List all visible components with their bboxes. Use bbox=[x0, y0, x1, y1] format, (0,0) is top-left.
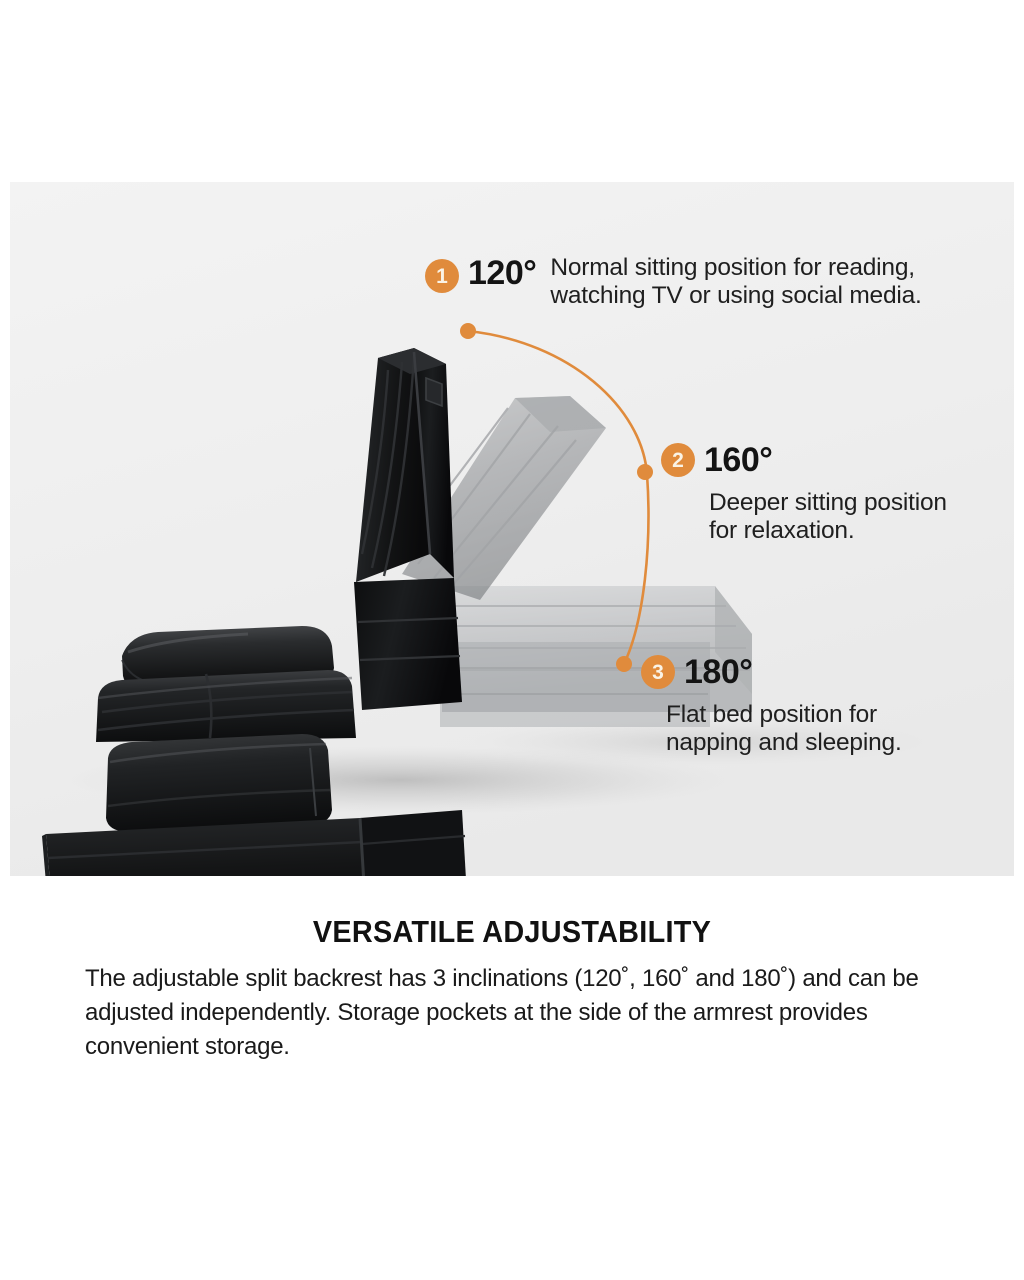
badge-number-2: 2 bbox=[661, 443, 695, 477]
callout-3-line2: napping and sleeping. bbox=[666, 729, 902, 756]
seat-cushion-upper bbox=[96, 670, 356, 742]
callout-3-head: 3 180° bbox=[641, 655, 902, 689]
angle-value-2: 160° bbox=[704, 443, 772, 477]
callout-3-description: Flat bed position for napping and sleepi… bbox=[666, 701, 902, 758]
callout-3-line1: Flat bed position for bbox=[666, 701, 877, 728]
callout-2-line1: Deeper sitting position bbox=[709, 489, 947, 516]
callout-1-line2: watching TV or using social media. bbox=[550, 282, 921, 309]
callout-2-head: 2 160° bbox=[661, 443, 947, 477]
callout-1-line1: Normal sitting position for reading, bbox=[550, 254, 915, 281]
seat-cushion-lower bbox=[106, 734, 332, 832]
section-body-copy: The adjustable split backrest has 3 incl… bbox=[85, 962, 945, 1064]
badge-number-3: 3 bbox=[641, 655, 675, 689]
callout-2-description: Deeper sitting position for relaxation. bbox=[709, 489, 947, 546]
callout-180-degree: 3 180° Flat bed position for napping and… bbox=[641, 655, 902, 758]
callout-120-degree: 1 120° Normal sitting position for readi… bbox=[425, 256, 922, 311]
angle-value-3: 180° bbox=[684, 655, 752, 689]
callout-1-description: Normal sitting position for reading, wat… bbox=[550, 254, 921, 311]
product-infographic: 1 120° Normal sitting position for readi… bbox=[0, 0, 1024, 1280]
angle-value-1: 120° bbox=[468, 256, 536, 290]
callout-1-head: 1 120° Normal sitting position for readi… bbox=[425, 256, 922, 311]
badge-number-1: 1 bbox=[425, 259, 459, 293]
callout-2-line2: for relaxation. bbox=[709, 517, 854, 544]
section-headline: VERSATILE ADJUSTABILITY bbox=[36, 914, 988, 950]
callout-160-degree: 2 160° Deeper sitting position for relax… bbox=[661, 443, 947, 546]
